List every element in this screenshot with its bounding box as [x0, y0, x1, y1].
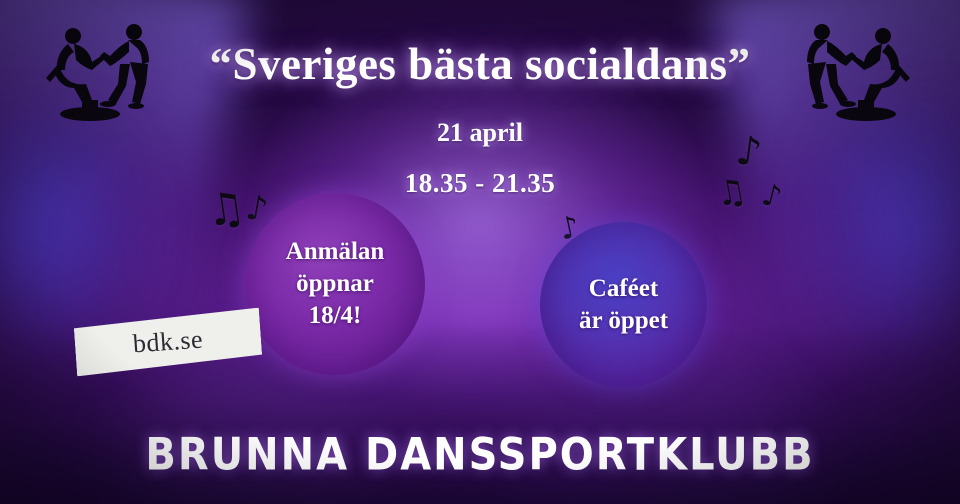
- cafe-line-1: Caféet: [579, 273, 668, 305]
- registration-line-3: 18/4!: [286, 300, 385, 332]
- headline-text: “Sveriges bästa socialdans”: [0, 38, 960, 90]
- poster-image: ♫ ♪ ♪ ♪ ♫ ♪ “Sveriges bästa socialdans” …: [0, 0, 960, 504]
- club-name: BRUNNA DANSSPORTKLUBB: [0, 429, 960, 481]
- cafe-circle: Caféet är öppet: [540, 222, 707, 387]
- registration-line-1: Anmälan: [286, 236, 385, 268]
- website-ribbon-text: bdk.se: [132, 325, 204, 360]
- event-time: 18.35 - 21.35: [0, 168, 960, 199]
- cafe-line-2: är öppet: [579, 305, 668, 337]
- event-date: 21 april: [0, 118, 960, 148]
- registration-line-2: öppnar: [286, 268, 385, 300]
- registration-circle: Anmälan öppnar 18/4!: [245, 193, 425, 375]
